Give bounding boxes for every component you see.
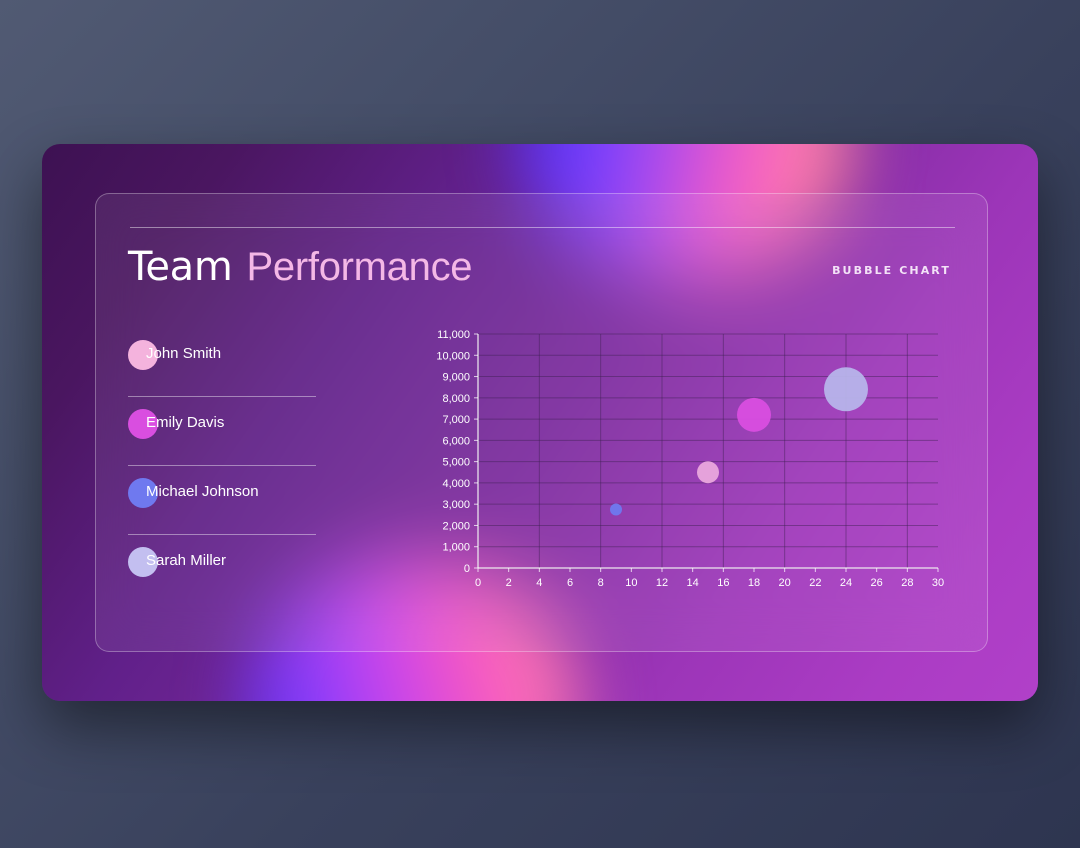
svg-text:4: 4 bbox=[536, 577, 542, 589]
legend-list: John Smith Emily Davis Michael Johnson S… bbox=[128, 332, 353, 608]
svg-text:20: 20 bbox=[779, 577, 791, 589]
svg-text:1,000: 1,000 bbox=[442, 542, 470, 554]
presentation-card: TeamPerformance BUBBLE CHART John Smith … bbox=[42, 144, 1038, 701]
glass-panel: TeamPerformance BUBBLE CHART John Smith … bbox=[95, 193, 988, 652]
title-secondary: Performance bbox=[247, 245, 473, 289]
svg-text:0: 0 bbox=[464, 563, 470, 575]
svg-text:3,000: 3,000 bbox=[442, 499, 470, 511]
svg-text:26: 26 bbox=[871, 577, 883, 589]
svg-text:18: 18 bbox=[748, 577, 760, 589]
svg-text:8: 8 bbox=[598, 577, 604, 589]
chart-canvas: 01,0002,0003,0004,0005,0006,0007,0008,00… bbox=[428, 326, 948, 596]
svg-text:30: 30 bbox=[932, 577, 944, 589]
list-item[interactable]: Sarah Miller bbox=[128, 539, 353, 608]
header-divider bbox=[130, 227, 955, 228]
svg-text:6,000: 6,000 bbox=[442, 435, 470, 447]
svg-text:11,000: 11,000 bbox=[437, 329, 470, 341]
svg-text:12: 12 bbox=[656, 577, 668, 589]
chart-type-label: BUBBLE CHART bbox=[832, 264, 951, 277]
svg-text:24: 24 bbox=[840, 577, 852, 589]
svg-text:14: 14 bbox=[687, 577, 699, 589]
svg-text:5,000: 5,000 bbox=[442, 457, 470, 469]
list-item[interactable]: Emily Davis bbox=[128, 401, 353, 470]
svg-text:10,000: 10,000 bbox=[436, 350, 470, 362]
list-item[interactable]: Michael Johnson bbox=[128, 470, 353, 539]
legend-divider bbox=[128, 534, 316, 535]
legend-item-label: Emily Davis bbox=[146, 414, 224, 431]
svg-text:7,000: 7,000 bbox=[442, 414, 470, 426]
list-item[interactable]: John Smith bbox=[128, 332, 353, 401]
svg-text:9,000: 9,000 bbox=[442, 372, 470, 384]
svg-text:4,000: 4,000 bbox=[442, 478, 470, 490]
legend-item-label: John Smith bbox=[146, 345, 221, 362]
title-primary: Team bbox=[128, 244, 233, 290]
legend-divider bbox=[128, 396, 316, 397]
legend-item-label: Michael Johnson bbox=[146, 483, 259, 500]
svg-text:2,000: 2,000 bbox=[442, 520, 470, 532]
svg-text:8,000: 8,000 bbox=[442, 393, 470, 405]
svg-text:28: 28 bbox=[901, 577, 913, 589]
legend-item-label: Sarah Miller bbox=[146, 552, 226, 569]
svg-text:10: 10 bbox=[625, 577, 637, 589]
page-title: TeamPerformance bbox=[128, 241, 472, 293]
svg-text:16: 16 bbox=[717, 577, 729, 589]
svg-text:0: 0 bbox=[475, 577, 481, 589]
svg-text:6: 6 bbox=[567, 577, 573, 589]
bubble-chart[interactable]: 01,0002,0003,0004,0005,0006,0007,0008,00… bbox=[428, 326, 948, 596]
legend-divider bbox=[128, 465, 316, 466]
svg-text:2: 2 bbox=[506, 577, 512, 589]
svg-text:22: 22 bbox=[809, 577, 821, 589]
